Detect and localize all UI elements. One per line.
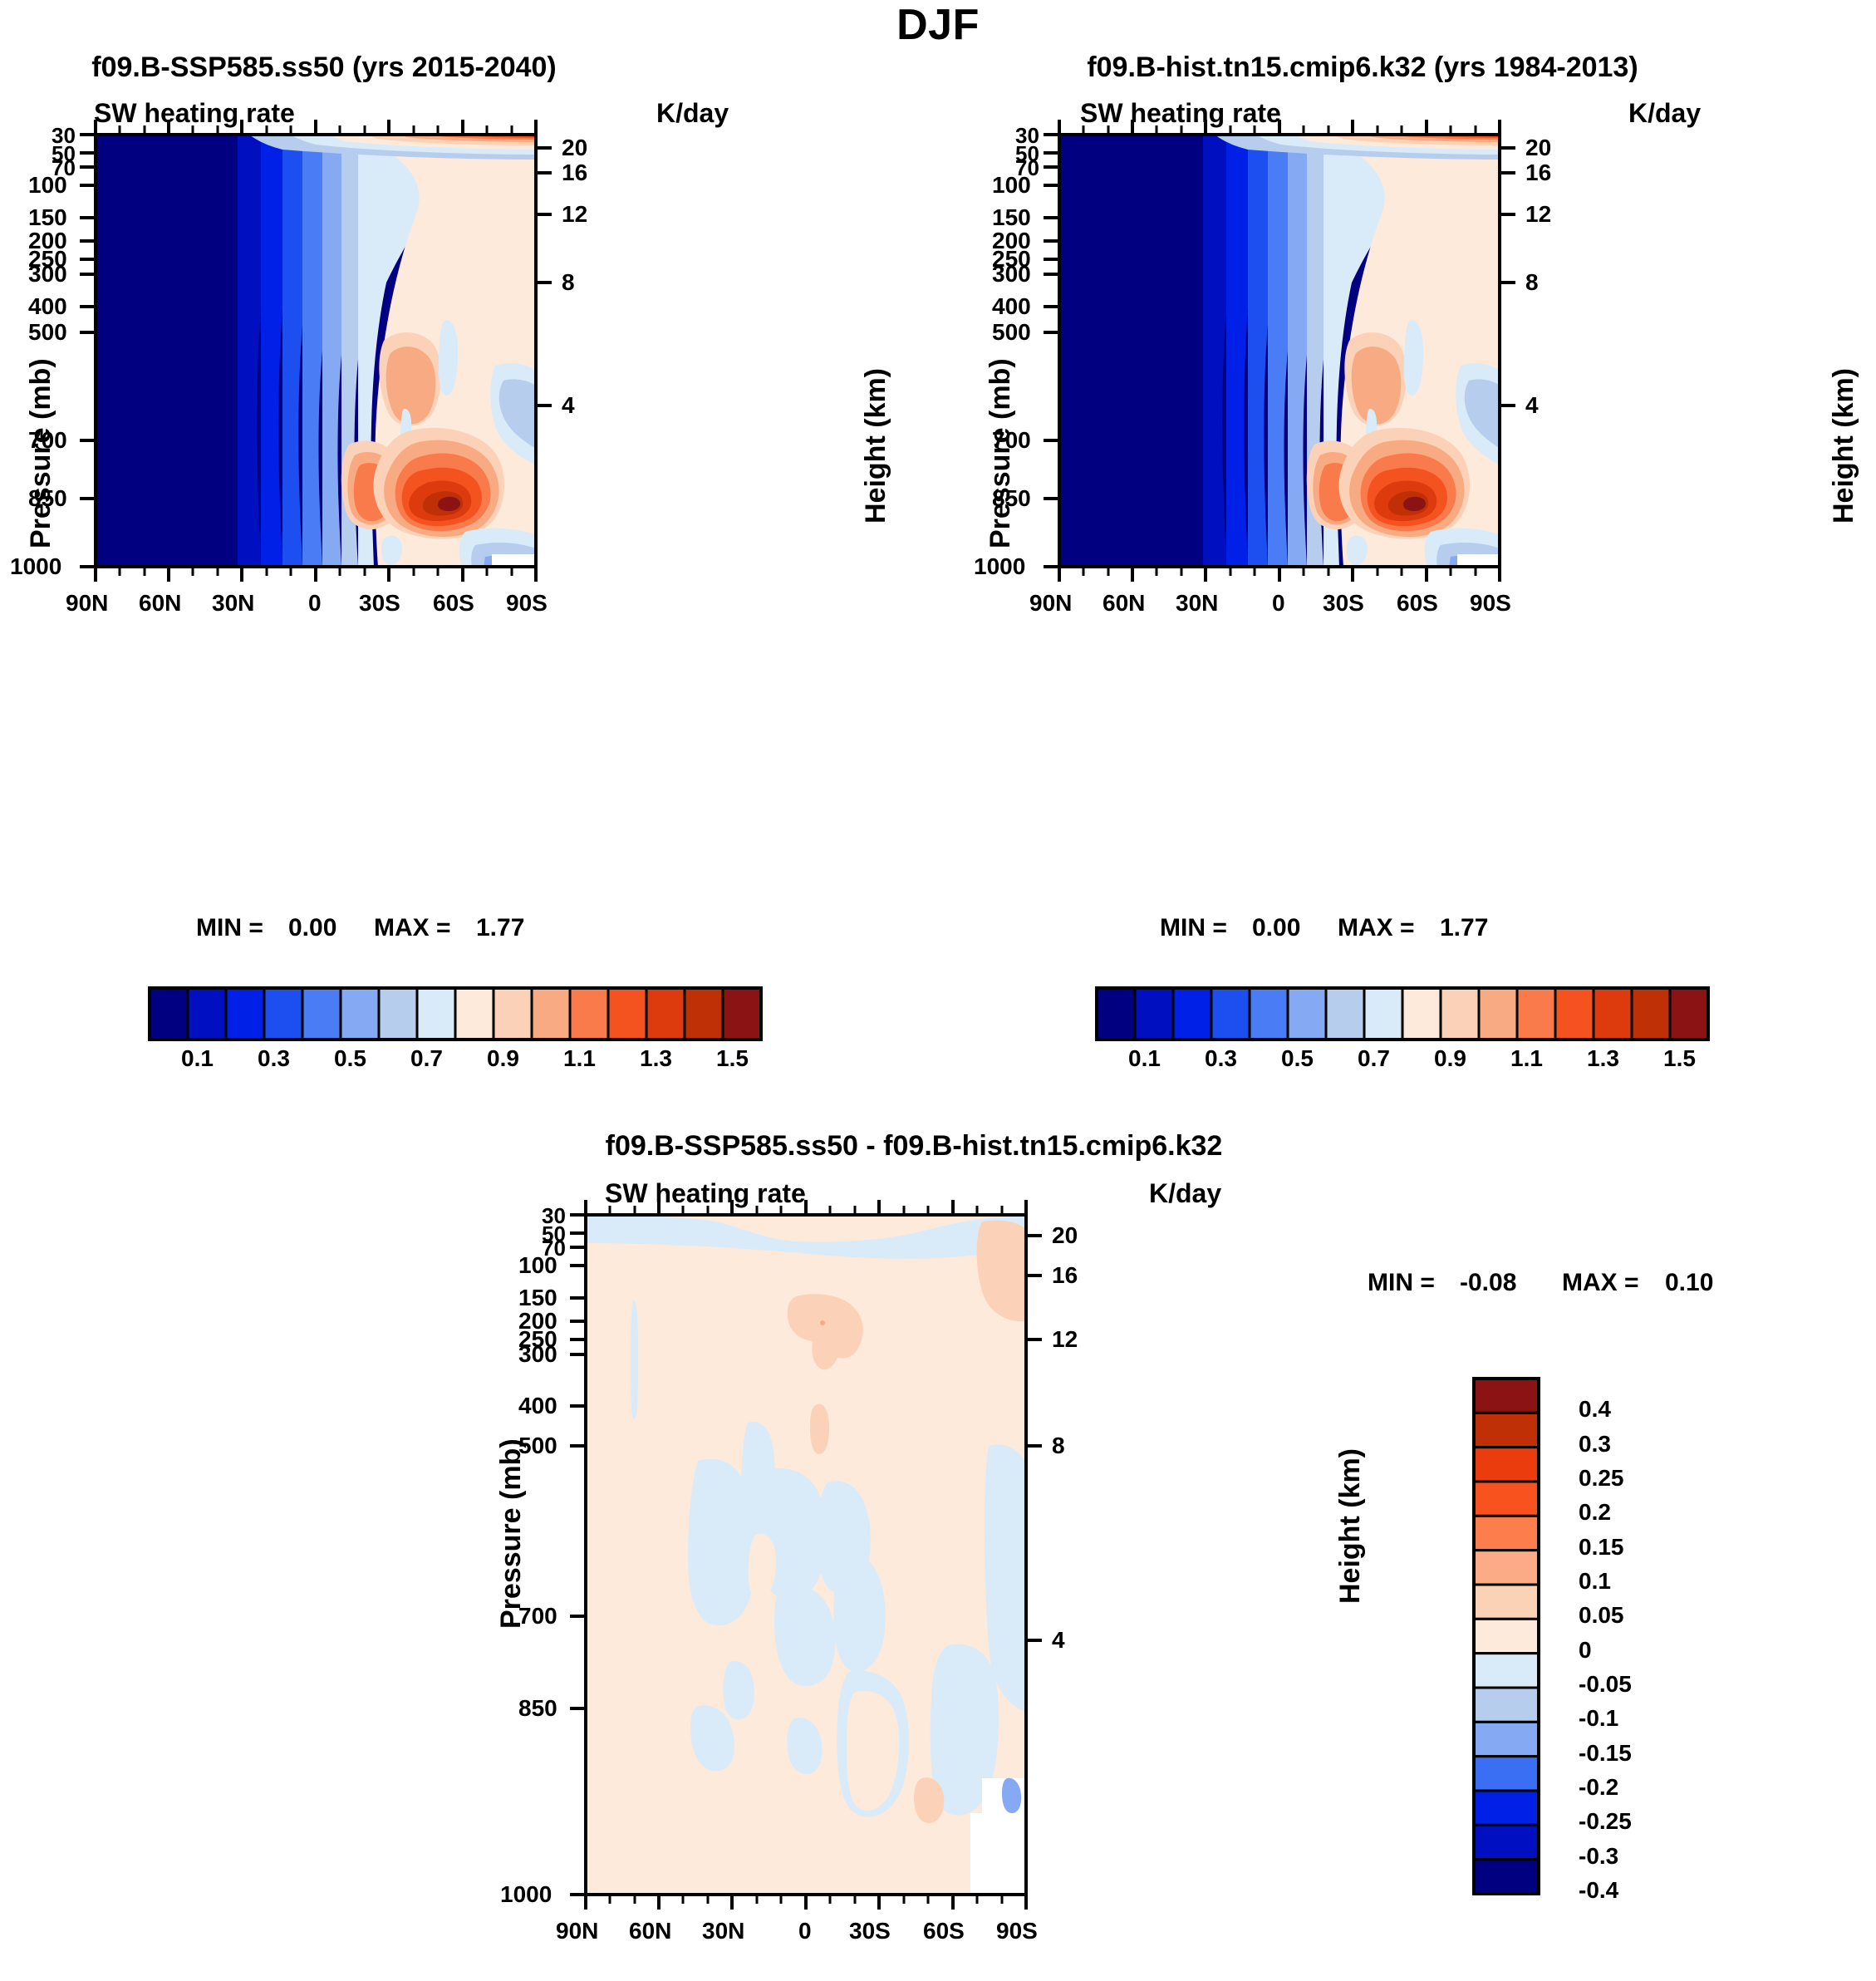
colorbar-cell — [1474, 1516, 1539, 1550]
figure-suptitle: DJF — [0, 0, 1876, 50]
xtick-label: 60S — [1397, 590, 1438, 617]
colorbar-diff[interactable] — [1471, 1375, 1570, 1907]
panel-title-top-right: f09.B-hist.tn15.cmip6.k32 (yrs 1984-2013… — [931, 52, 1795, 84]
colorbar-cell — [379, 988, 417, 1040]
colorbar-cell — [1474, 1757, 1539, 1791]
cbtick-label: 0.1 — [1128, 1045, 1161, 1072]
xtick-label: 60N — [139, 590, 181, 617]
figure-root: DJF f09.B-SSP585.ss50 (yrs 2015-2040) SW… — [0, 0, 1876, 1981]
max-label-top-right: MAX = — [1338, 914, 1415, 942]
colorbar-cell — [532, 988, 570, 1040]
colorbar-cell — [455, 988, 494, 1040]
xtick-label: 30N — [1176, 590, 1218, 617]
ytick-label: 700 — [28, 427, 67, 454]
ytick-label: 850 — [992, 485, 1031, 512]
colorbar-diff-tick-label: -0.4 — [1579, 1877, 1618, 1904]
contour-field-top-right — [1059, 135, 1500, 568]
cbtick-label: 1.3 — [640, 1045, 672, 1072]
xtick-label: 90N — [1029, 590, 1072, 617]
cbtick-label: 0.9 — [487, 1045, 519, 1072]
contour-field-diff — [586, 1215, 1026, 1895]
colorbar-main-left[interactable] — [148, 985, 779, 1093]
xtick-label: 60S — [433, 590, 474, 617]
colorbar-cell — [646, 988, 685, 1040]
colorbar-cell — [1670, 988, 1708, 1040]
max-label-top-left: MAX = — [374, 914, 451, 942]
cbtick-label: 1.1 — [1510, 1045, 1543, 1072]
ytick-label: 400 — [992, 293, 1031, 320]
colorbar-cell — [302, 988, 341, 1040]
colorbar-cell — [1474, 1585, 1539, 1619]
min-label-top-right: MIN = — [1160, 914, 1227, 942]
xtick-label: 90S — [996, 1918, 1038, 1944]
cbtick-label: 0.5 — [1281, 1045, 1314, 1072]
colorbar-cell — [1474, 1654, 1539, 1688]
ytick-label: 100 — [28, 172, 67, 199]
colorbar-cell — [1474, 1860, 1539, 1894]
colorbar-cell — [1632, 988, 1670, 1040]
y2tick-label: 4 — [1052, 1627, 1065, 1654]
xtick-label: 30S — [359, 590, 400, 617]
cbtick-label: 0.1 — [181, 1045, 214, 1072]
xtick-label: 60S — [923, 1918, 965, 1944]
colorbar-cell — [1474, 1619, 1539, 1653]
y2tick-label: 20 — [562, 135, 587, 161]
y2tick-label: 12 — [1052, 1326, 1078, 1353]
colorbar-diff-tick-label: 0.2 — [1579, 1499, 1611, 1526]
colorbar-cell — [1173, 988, 1211, 1040]
plot-diff — [490, 1197, 1421, 1928]
colorbar-cell — [1474, 1688, 1539, 1722]
colorbar-cell — [1441, 988, 1479, 1040]
cbtick-label: 0.3 — [1205, 1045, 1237, 1072]
colorbar-cell — [1594, 988, 1632, 1040]
xtick-label: 90S — [1470, 590, 1511, 617]
colorbar-cell — [1211, 988, 1250, 1040]
colorbar-cell — [494, 988, 532, 1040]
xtick-label: 30S — [1323, 590, 1364, 617]
y2tick-label: 8 — [1052, 1433, 1065, 1459]
colorbar-diff-tick-label: 0.4 — [1579, 1396, 1611, 1423]
colorbar-cell — [1474, 1825, 1539, 1859]
ytick-label: 300 — [518, 1341, 557, 1368]
colorbar-cell — [1474, 1379, 1539, 1413]
cbtick-label: 0.7 — [410, 1045, 443, 1072]
colorbar-cell — [1474, 1448, 1539, 1482]
ytick-label: 300 — [992, 261, 1031, 288]
colorbar-cell — [1135, 988, 1173, 1040]
colorbar-cell — [1555, 988, 1594, 1040]
xtick-label: 0 — [798, 1918, 812, 1944]
xtick-label: 30N — [212, 590, 254, 617]
cbtick-label: 1.1 — [563, 1045, 596, 1072]
y2tick-label: 16 — [1052, 1262, 1078, 1289]
colorbar-cell — [150, 988, 188, 1040]
y2tick-label: 20 — [1525, 135, 1551, 161]
colorbar-cell — [417, 988, 455, 1040]
min-label-diff: MIN = — [1368, 1269, 1435, 1297]
colorbar-cell — [1097, 988, 1135, 1040]
colorbar-cell — [226, 988, 264, 1040]
ytick-label: 1000 — [974, 553, 1025, 580]
cbtick-label: 0.5 — [334, 1045, 366, 1072]
y2tick-label: 20 — [1052, 1222, 1078, 1249]
y2tick-label: 16 — [1525, 160, 1551, 186]
xtick-label: 90N — [556, 1918, 598, 1944]
min-value-diff: -0.08 — [1460, 1269, 1516, 1297]
panel-title-diff: f09.B-SSP585.ss50 - f09.B-hist.tn15.cmip… — [432, 1130, 1396, 1163]
colorbar-cell — [1250, 988, 1288, 1040]
colorbar-diff-tick-label: -0.3 — [1579, 1843, 1618, 1870]
min-value-top-left: 0.00 — [288, 914, 336, 942]
colorbar-cell — [341, 988, 379, 1040]
max-value-top-left: 1.77 — [476, 914, 524, 942]
y2tick-label: 12 — [562, 201, 587, 228]
colorbar-cell — [723, 988, 761, 1040]
ytick-label: 500 — [28, 319, 67, 346]
colorbar-cell — [1326, 988, 1364, 1040]
ytick-label: 400 — [28, 293, 67, 320]
cbtick-label: 0.9 — [1434, 1045, 1466, 1072]
plot-top-right — [964, 116, 1876, 598]
cbtick-label: 1.5 — [716, 1045, 749, 1072]
min-value-top-right: 0.00 — [1252, 914, 1300, 942]
xtick-label: 90S — [506, 590, 548, 617]
xtick-label: 30S — [849, 1918, 891, 1944]
cbtick-label: 1.3 — [1587, 1045, 1619, 1072]
xtick-label: 0 — [308, 590, 322, 617]
xtick-label: 60N — [629, 1918, 671, 1944]
colorbar-cell — [1364, 988, 1402, 1040]
ytick-label: 400 — [518, 1393, 557, 1419]
ytick-label: 850 — [28, 485, 67, 512]
colorbar-cell — [1479, 988, 1517, 1040]
cbtick-label: 0.7 — [1358, 1045, 1390, 1072]
ytick-label: 100 — [518, 1252, 557, 1279]
colorbar-diff-tick-label: 0.3 — [1579, 1431, 1611, 1457]
colorbar-diff-tick-label: -0.15 — [1579, 1740, 1632, 1767]
colorbar-cell — [1402, 988, 1441, 1040]
xtick-label: 30N — [702, 1918, 744, 1944]
colorbar-cell — [1517, 988, 1555, 1040]
contour-field-top-left — [96, 135, 536, 568]
colorbar-cell — [685, 988, 723, 1040]
colorbar-cell — [264, 988, 302, 1040]
colorbar-diff-tick-label: 0.15 — [1579, 1534, 1624, 1561]
colorbar-cell — [608, 988, 646, 1040]
colorbar-cell — [1288, 988, 1326, 1040]
max-value-top-right: 1.77 — [1440, 914, 1488, 942]
ytick-label: 500 — [992, 319, 1031, 346]
xtick-label: 90N — [66, 590, 108, 617]
plot-top-left — [0, 116, 931, 598]
colorbar-diff-tick-label: -0.25 — [1579, 1808, 1632, 1835]
colorbar-diff-tick-label: -0.1 — [1579, 1705, 1618, 1732]
y2tick-label: 4 — [1525, 392, 1539, 419]
ytick-label: 1000 — [10, 553, 61, 580]
y2tick-label: 16 — [562, 160, 587, 186]
ytick-label: 850 — [518, 1695, 557, 1722]
cbtick-label: 1.5 — [1663, 1045, 1696, 1072]
cbtick-label: 0.3 — [258, 1045, 290, 1072]
ytick-label: 100 — [992, 172, 1031, 199]
colorbar-diff-tick-label: -0.05 — [1579, 1671, 1632, 1698]
y2tick-label: 8 — [1525, 269, 1539, 296]
max-label-diff: MAX = — [1562, 1269, 1639, 1297]
ytick-label: 1000 — [500, 1881, 552, 1908]
colorbar-cell — [1474, 1791, 1539, 1825]
max-value-diff: 0.10 — [1665, 1269, 1713, 1297]
colorbar-diff-tick-label: -0.2 — [1579, 1774, 1618, 1801]
y2tick-label: 4 — [562, 392, 575, 419]
colorbar-cell — [1474, 1482, 1539, 1516]
xtick-label: 0 — [1272, 590, 1285, 617]
ytick-label: 700 — [518, 1603, 557, 1630]
panel-title-top-left: f09.B-SSP585.ss50 (yrs 2015-2040) — [0, 52, 648, 84]
colorbar-cell — [1474, 1413, 1539, 1447]
min-label-top-left: MIN = — [196, 914, 263, 942]
y2tick-label: 8 — [562, 269, 575, 296]
colorbar-cell — [570, 988, 608, 1040]
colorbar-cell — [1474, 1722, 1539, 1756]
y2tick-label: 12 — [1525, 201, 1551, 228]
colorbar-cell — [188, 988, 226, 1040]
ytick-label: 700 — [992, 427, 1031, 454]
xtick-label: 60N — [1103, 590, 1145, 617]
ytick-label: 500 — [518, 1433, 557, 1459]
colorbar-diff-tick-label: 0.1 — [1579, 1568, 1611, 1595]
colorbar-diff-tick-label: 0 — [1579, 1637, 1592, 1664]
colorbar-diff-tick-label: 0.25 — [1579, 1465, 1624, 1492]
colorbar-main-right[interactable] — [1095, 985, 1726, 1093]
colorbar-cell — [1474, 1551, 1539, 1585]
colorbar-diff-tick-label: 0.05 — [1579, 1602, 1624, 1629]
ytick-label: 300 — [28, 261, 67, 288]
